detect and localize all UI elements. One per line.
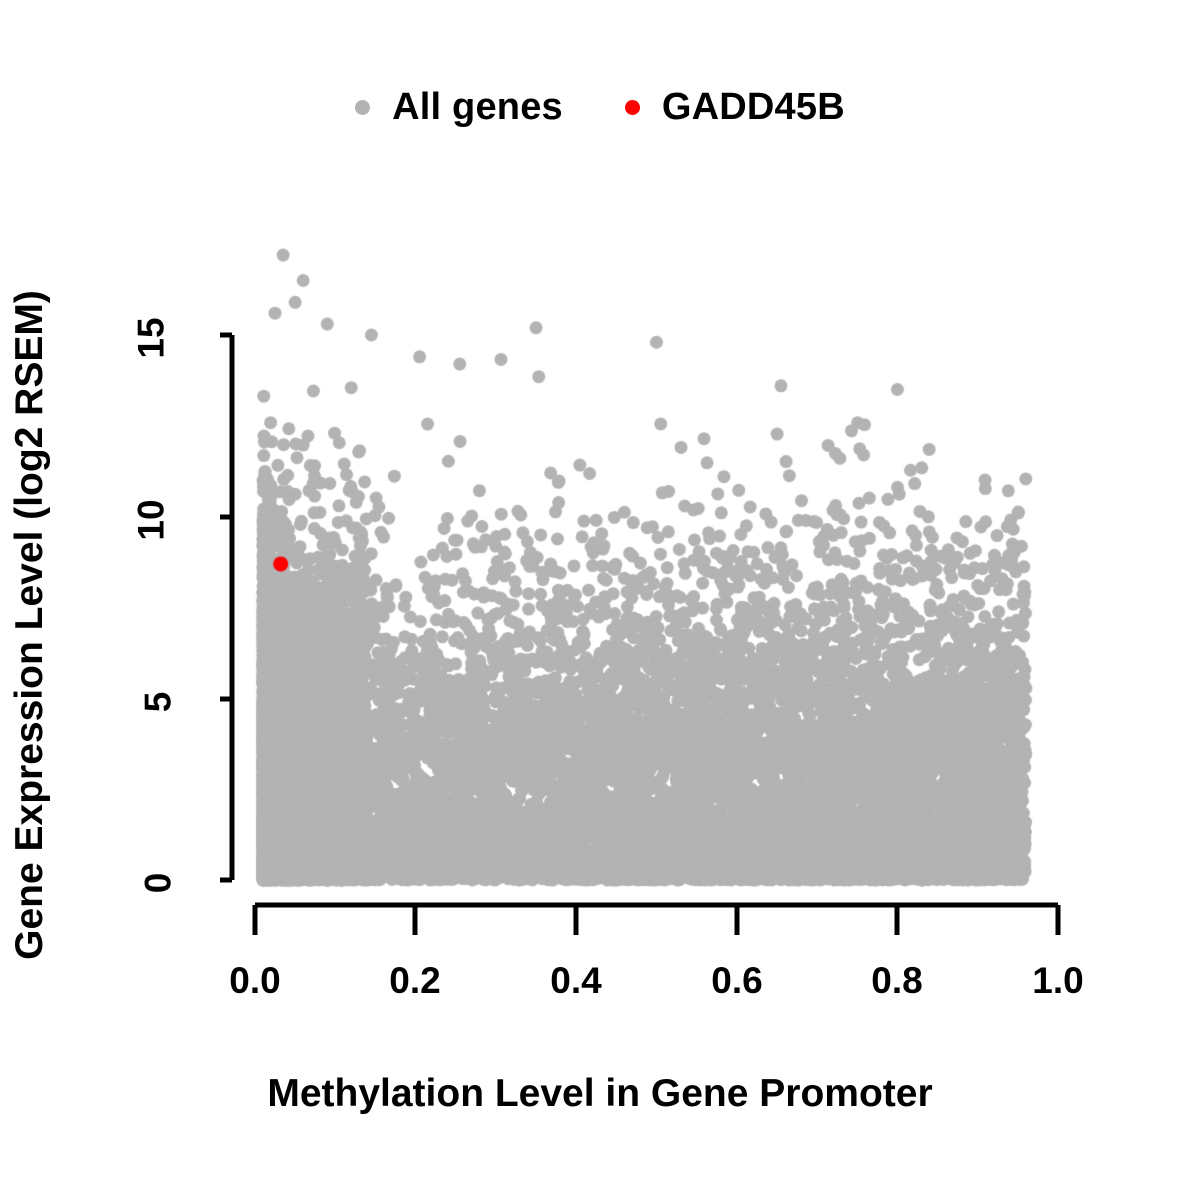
x-tick-label-0: 0.0: [229, 960, 280, 1002]
scatter-plot-figure: All genes GADD45B 0.0 0.2 0.4 0.6 0.8 1.…: [0, 0, 1200, 1200]
x-tick-label-5: 1.0: [1032, 960, 1083, 1002]
x-tick-label-3: 0.6: [711, 960, 762, 1002]
legend-entry-all-genes: All genes: [355, 88, 563, 126]
scatter-plot-canvas: [0, 0, 1200, 1200]
legend-label-all-genes: All genes: [392, 88, 563, 126]
x-tick-label-1: 0.2: [389, 960, 440, 1002]
y-tick-label-10: 10: [131, 499, 173, 540]
x-axis-title: Methylation Level in Gene Promoter: [0, 1072, 1200, 1116]
x-tick-label-4: 0.8: [871, 960, 922, 1002]
y-tick-label-15: 15: [131, 317, 173, 358]
y-tick-label-0: 0: [137, 873, 179, 894]
legend: All genes GADD45B: [0, 88, 1200, 126]
legend-label-gadd45b: GADD45B: [662, 88, 845, 126]
y-tick-label-5: 5: [137, 692, 179, 713]
legend-marker-gray-circle-icon: [355, 100, 370, 115]
legend-marker-red-circle-icon: [625, 100, 640, 115]
x-tick-label-2: 0.4: [550, 960, 601, 1002]
legend-entry-gadd45b: GADD45B: [625, 88, 845, 126]
